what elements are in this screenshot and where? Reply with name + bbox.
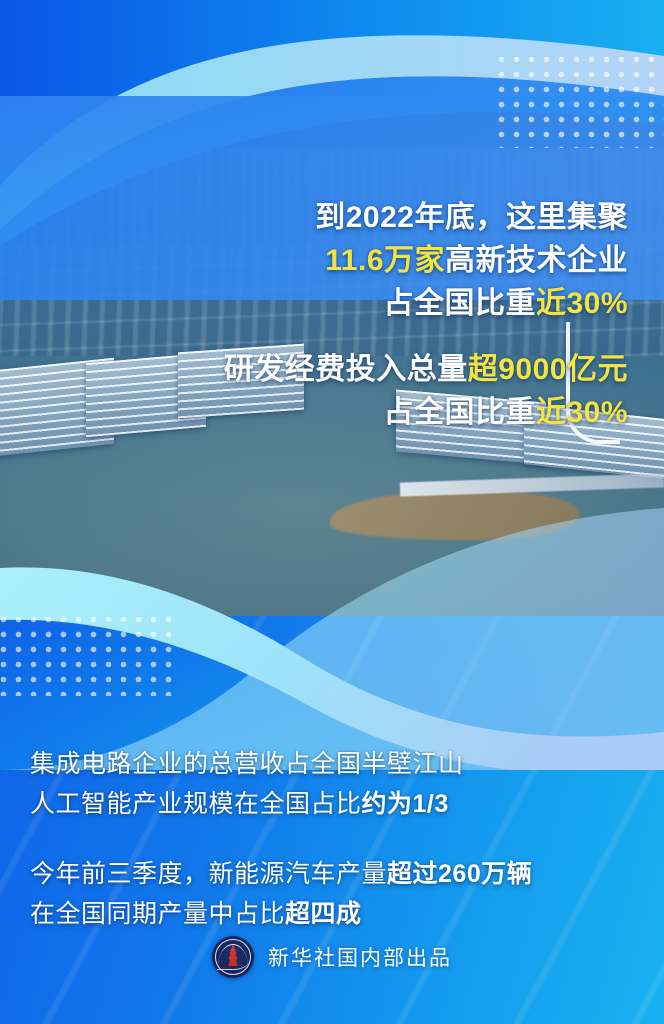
stat-text: 占全国比重 <box>383 396 536 429</box>
stat-line: 在全国同期产量中占比超四成 <box>30 894 532 934</box>
stat-highlight: 超9000亿元 <box>468 353 628 386</box>
stat-text: 研发经费投入总量 <box>224 353 468 386</box>
xinhua-logo-icon <box>212 936 254 978</box>
stat-text: 占全国比重 <box>383 287 536 320</box>
stat-highlight: 11.6万家 <box>325 244 445 277</box>
stat-line: 占全国比重近30% <box>224 391 628 434</box>
stat-highlight: 近30% <box>536 396 628 429</box>
stat-text: 今年前三季度，新能源汽车产量 <box>30 860 387 888</box>
stat-block-high-tech-enterprises: 到2022年底，这里集聚 11.6万家高新技术企业 占全国比重近30% <box>315 196 628 325</box>
dot-grid-bottom-left <box>0 612 176 696</box>
stat-block-ic-and-ai: 集成电路企业的总营收占全国半壁江山 人工智能产业规模在全国占比约为1/3 <box>30 744 464 824</box>
stat-line: 今年前三季度，新能源汽车产量超过260万辆 <box>30 854 532 894</box>
stat-text: 在全国同期产量中占比 <box>30 900 285 928</box>
stat-highlight: 超过260万辆 <box>387 860 532 888</box>
stat-line: 11.6万家高新技术企业 <box>315 239 628 282</box>
dot-grid-top-right <box>494 52 664 148</box>
stat-text: 到2022年底，这里集聚 <box>315 201 628 234</box>
stat-line: 集成电路企业的总营收占全国半壁江山 <box>30 744 464 784</box>
stat-line: 人工智能产业规模在全国占比约为1/3 <box>30 784 464 824</box>
stat-block-new-energy-vehicles: 今年前三季度，新能源汽车产量超过260万辆 在全国同期产量中占比超四成 <box>30 854 532 934</box>
infographic-poster: 到2022年底，这里集聚 11.6万家高新技术企业 占全国比重近30% 研发经费… <box>0 0 664 1024</box>
stat-text: 集成电路企业的总营收占全国半壁江山 <box>30 750 464 778</box>
stat-line: 研发经费投入总量超9000亿元 <box>224 348 628 391</box>
stat-highlight: 约为1/3 <box>362 790 449 818</box>
stat-line: 占全国比重近30% <box>315 282 628 325</box>
stat-line: 到2022年底，这里集聚 <box>315 196 628 239</box>
stat-text: 高新技术企业 <box>445 244 628 277</box>
stat-block-rd-spending: 研发经费投入总量超9000亿元 占全国比重近30% <box>224 348 628 434</box>
stat-text: 人工智能产业规模在全国占比 <box>30 790 362 818</box>
stat-highlight: 超四成 <box>285 900 362 928</box>
stat-highlight: 近30% <box>536 287 628 320</box>
footer-credit: 新华社国内部出品 <box>268 942 452 972</box>
footer: 新华社国内部出品 <box>0 936 664 978</box>
